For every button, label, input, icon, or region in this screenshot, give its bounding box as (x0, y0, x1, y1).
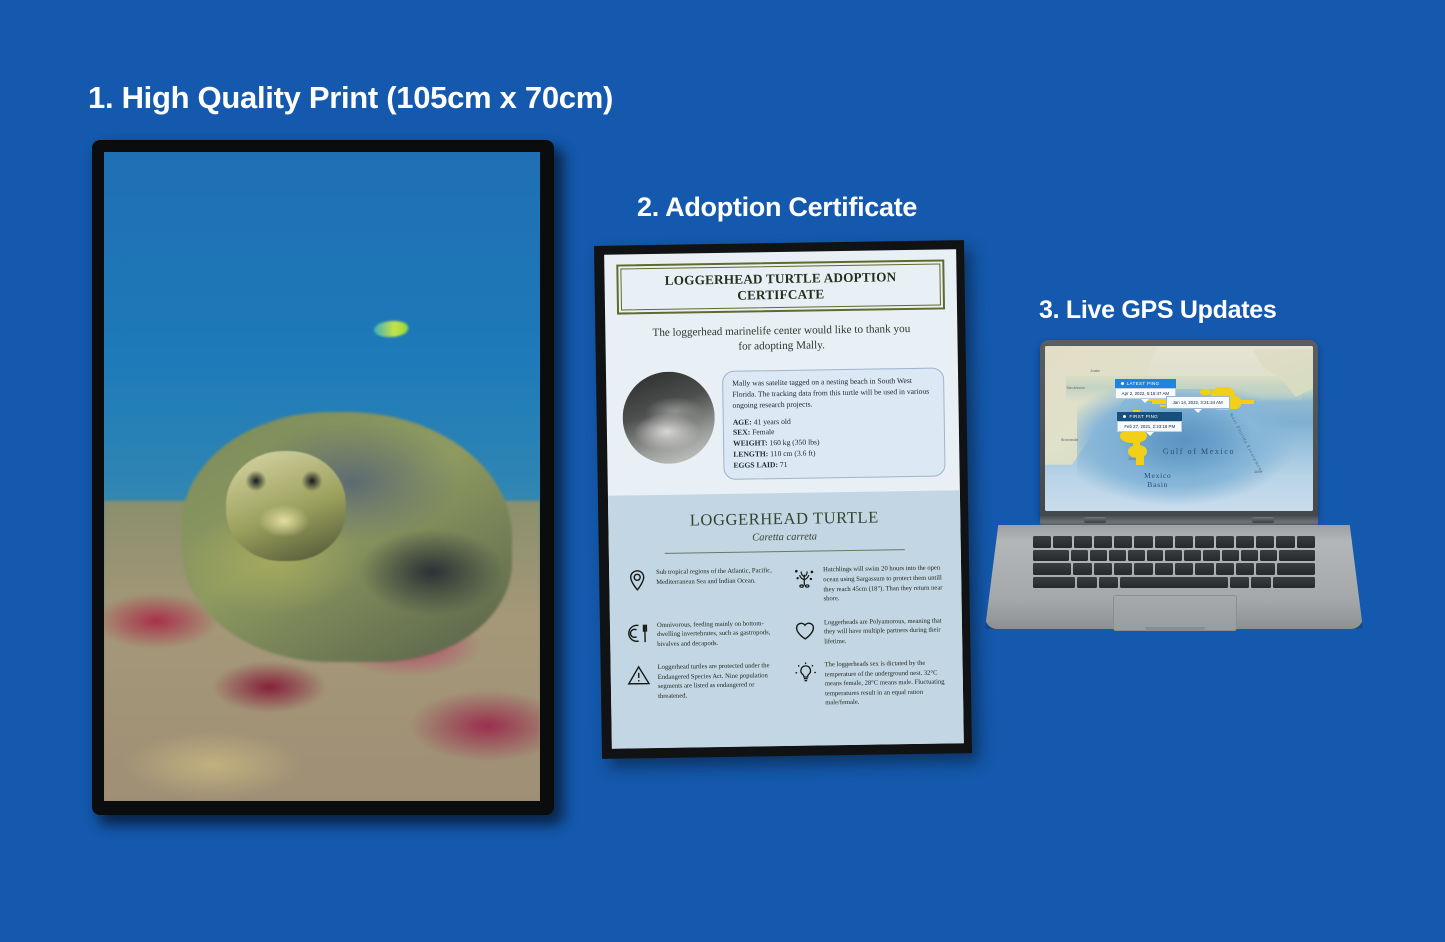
seagrass-icon (792, 566, 816, 590)
species-divider (665, 550, 905, 555)
gps-section-heading: 3. Live GPS Updates (1039, 296, 1276, 325)
species-common-name: LOGGERHEAD TURTLE (624, 507, 944, 532)
latest-ping-label: LATEST PING (1127, 381, 1160, 386)
hinge-notch-right (1252, 517, 1274, 523)
key (1165, 550, 1182, 562)
laptop-lid: Gulf of Mexico Mexico Basin West Florida… (1040, 340, 1318, 518)
certificate-frame: LOGGERHEAD TURTLE ADOPTION CERTIFCATE Th… (594, 240, 972, 759)
key (1155, 536, 1173, 548)
mid-ping-tooltip[interactable]: Jan 14, 2022, 3:21:24 AM (1166, 396, 1230, 413)
hinge-notch-left (1084, 517, 1106, 523)
key (1256, 563, 1274, 575)
keyboard-row[interactable] (1033, 536, 1315, 548)
keyboard-row[interactable] (1033, 577, 1315, 589)
stat-label: AGE: (733, 417, 752, 426)
key (1114, 536, 1132, 548)
key (1114, 563, 1132, 575)
stat-label: WEIGHT: (733, 438, 768, 448)
first-ping-tooltip[interactable]: FIRST PING Feb 27, 2021, 2:23:18 PM (1117, 412, 1182, 436)
latest-ping-header: LATEST PING (1115, 379, 1176, 388)
fact-text: Omnivorous, feeding mainly on bottom-dwe… (657, 619, 779, 650)
turtle-photograph (104, 152, 540, 801)
fact-text: Sub tropical regions of the Atlantic, Pa… (656, 567, 778, 588)
print-frame (92, 140, 554, 815)
cutlery-plate-icon (626, 621, 650, 645)
key (1147, 550, 1164, 562)
shift-key (1033, 577, 1075, 589)
small-fish (374, 321, 408, 337)
stat-value: Female (752, 427, 774, 436)
key (1071, 550, 1088, 562)
tooltip-pointer-icon (1194, 409, 1202, 413)
stat-value: 41 years old (754, 416, 791, 426)
certificate-page: LOGGERHEAD TURTLE ADOPTION CERTIFCATE Th… (604, 249, 964, 748)
track-segment (1238, 400, 1254, 403)
key (1077, 577, 1097, 589)
stat-row: EGGS LAID: 71 (733, 457, 936, 471)
tooltip-pointer-icon (1141, 399, 1149, 403)
framed-print (92, 140, 562, 822)
species-latin-name: Caretta carreta (625, 530, 945, 546)
map-depth-label: 3939 (1128, 457, 1136, 461)
key (1216, 536, 1234, 548)
turtle-intro-text: Mally was satelite tagged on a nesting b… (732, 376, 935, 412)
fact-grid: Sub tropical regions of the Atlantic, Pa… (625, 564, 947, 712)
key (1128, 550, 1145, 562)
key (1260, 550, 1277, 562)
fact-text: The loggerheads sex is dictated by the t… (825, 659, 948, 709)
fact-text: Loggerheads are Polyamorous, meaning tha… (824, 616, 946, 647)
stat-value: 110 cm (3.6 ft) (770, 448, 815, 458)
key (1195, 563, 1213, 575)
laptop-hinge (1040, 516, 1318, 526)
species-block: LOGGERHEAD TURTLE Caretta carreta (624, 507, 945, 555)
promo-canvas: 1. High Quality Print (105cm x 70cm) 2. … (0, 0, 1445, 942)
map-label-san-antonio: San Antonio (1066, 386, 1084, 390)
ping-dot-icon (1123, 415, 1126, 418)
map-label-austin: Austin (1091, 369, 1100, 373)
key (1241, 550, 1258, 562)
certificate-header: LOGGERHEAD TURTLE ADOPTION CERTIFCATE Th… (604, 249, 958, 363)
laptop-keyboard[interactable] (1033, 536, 1315, 588)
key (1090, 550, 1107, 562)
first-ping-label: FIRST PING (1129, 414, 1158, 419)
first-ping-time: Feb 27, 2021, 2:23:18 PM (1117, 421, 1182, 432)
laptop-trackpad[interactable] (1113, 595, 1237, 631)
caps-key (1033, 563, 1071, 575)
key (1195, 536, 1213, 548)
stat-value: 71 (780, 460, 788, 469)
key (1074, 536, 1092, 548)
key (1236, 536, 1254, 548)
stat-label: SEX: (733, 428, 750, 437)
turtle-photo-circle (622, 371, 715, 464)
tab-key (1033, 550, 1069, 562)
turtle-info-box: Mally was satelite tagged on a nesting b… (722, 368, 946, 481)
sea-turtle-body (182, 412, 512, 662)
fact-item: Hatchlings will swim 20 hours into the o… (792, 564, 946, 605)
key (1222, 550, 1239, 562)
key (1155, 563, 1173, 575)
key (1094, 536, 1112, 548)
key (1033, 536, 1051, 548)
map-label-brownsville: Brownsville (1061, 438, 1078, 442)
certificate-title-box: LOGGERHEAD TURTLE ADOPTION CERTIFCATE (616, 259, 945, 314)
mid-ping-time: Jan 14, 2022, 3:21:24 AM (1166, 396, 1230, 409)
fact-item: Omnivorous, feeding mainly on bottom-dwe… (626, 619, 779, 650)
space-key (1120, 577, 1227, 589)
key (1256, 536, 1274, 548)
fact-item: Loggerhead turtles are protected under t… (627, 661, 781, 711)
key (1297, 536, 1315, 548)
certificate-profile: Mally was satelite tagged on a nesting b… (606, 357, 960, 482)
certificate-title: LOGGERHEAD TURTLE ADOPTION CERTIFCATE (620, 263, 941, 310)
location-pin-icon (625, 569, 649, 593)
fact-text: Hatchlings will swim 20 hours into the o… (823, 564, 946, 604)
key (1216, 563, 1234, 575)
key (1134, 536, 1152, 548)
key (1109, 550, 1126, 562)
certificate-thanks: The loggerhead marinelife center would l… (631, 322, 931, 357)
key (1073, 563, 1091, 575)
stat-label: EGGS LAID: (733, 460, 778, 470)
fact-text: Loggerhead turtles are protected under t… (658, 661, 781, 701)
key (1053, 536, 1071, 548)
key (1099, 577, 1119, 589)
print-section-heading: 1. High Quality Print (105cm x 70cm) (88, 80, 613, 116)
track-segment (1136, 455, 1144, 465)
key (1134, 563, 1152, 575)
lightbulb-icon (794, 661, 818, 685)
arrow-keys (1273, 577, 1315, 589)
certificate-species-band: LOGGERHEAD TURTLE Caretta carreta (608, 491, 964, 749)
ping-dot-icon (1121, 382, 1124, 385)
laptop-lid-lip (1145, 627, 1205, 630)
map-depth-label: 3699 (1254, 470, 1262, 474)
fact-item: The loggerheads sex is dictated by the t… (794, 659, 948, 709)
key (1236, 563, 1254, 575)
keyboard-row[interactable] (1033, 550, 1315, 562)
turtle-stats: AGE: 41 years old SEX: Female WEIGHT: 16… (733, 414, 937, 471)
first-ping-header: FIRST PING (1117, 412, 1182, 421)
warning-triangle-icon (627, 663, 651, 687)
backspace-key (1279, 550, 1315, 562)
stat-label: LENGTH: (733, 449, 768, 459)
gps-map-screen[interactable]: Gulf of Mexico Mexico Basin West Florida… (1045, 346, 1313, 511)
fact-item: Loggerheads are Polyamorous, meaning tha… (793, 616, 946, 647)
certificate-section-heading: 2. Adoption Certificate (637, 192, 917, 223)
key (1175, 536, 1193, 548)
fact-item: Sub tropical regions of the Atlantic, Pa… (625, 567, 779, 608)
adoption-certificate: LOGGERHEAD TURTLE ADOPTION CERTIFCATE Th… (598, 243, 968, 756)
key (1230, 577, 1250, 589)
stat-value: 160 kg (350 lbs) (769, 438, 819, 448)
key (1094, 563, 1112, 575)
key (1175, 563, 1193, 575)
keyboard-row[interactable] (1033, 563, 1315, 575)
enter-key (1277, 563, 1315, 575)
heart-icon (793, 618, 817, 642)
laptop-mockup: Gulf of Mexico Mexico Basin West Florida… (985, 340, 1363, 648)
key (1184, 550, 1201, 562)
sea-turtle-head (226, 451, 346, 561)
key (1203, 550, 1220, 562)
key (1276, 536, 1294, 548)
key (1251, 577, 1271, 589)
tooltip-pointer-icon (1146, 432, 1154, 436)
